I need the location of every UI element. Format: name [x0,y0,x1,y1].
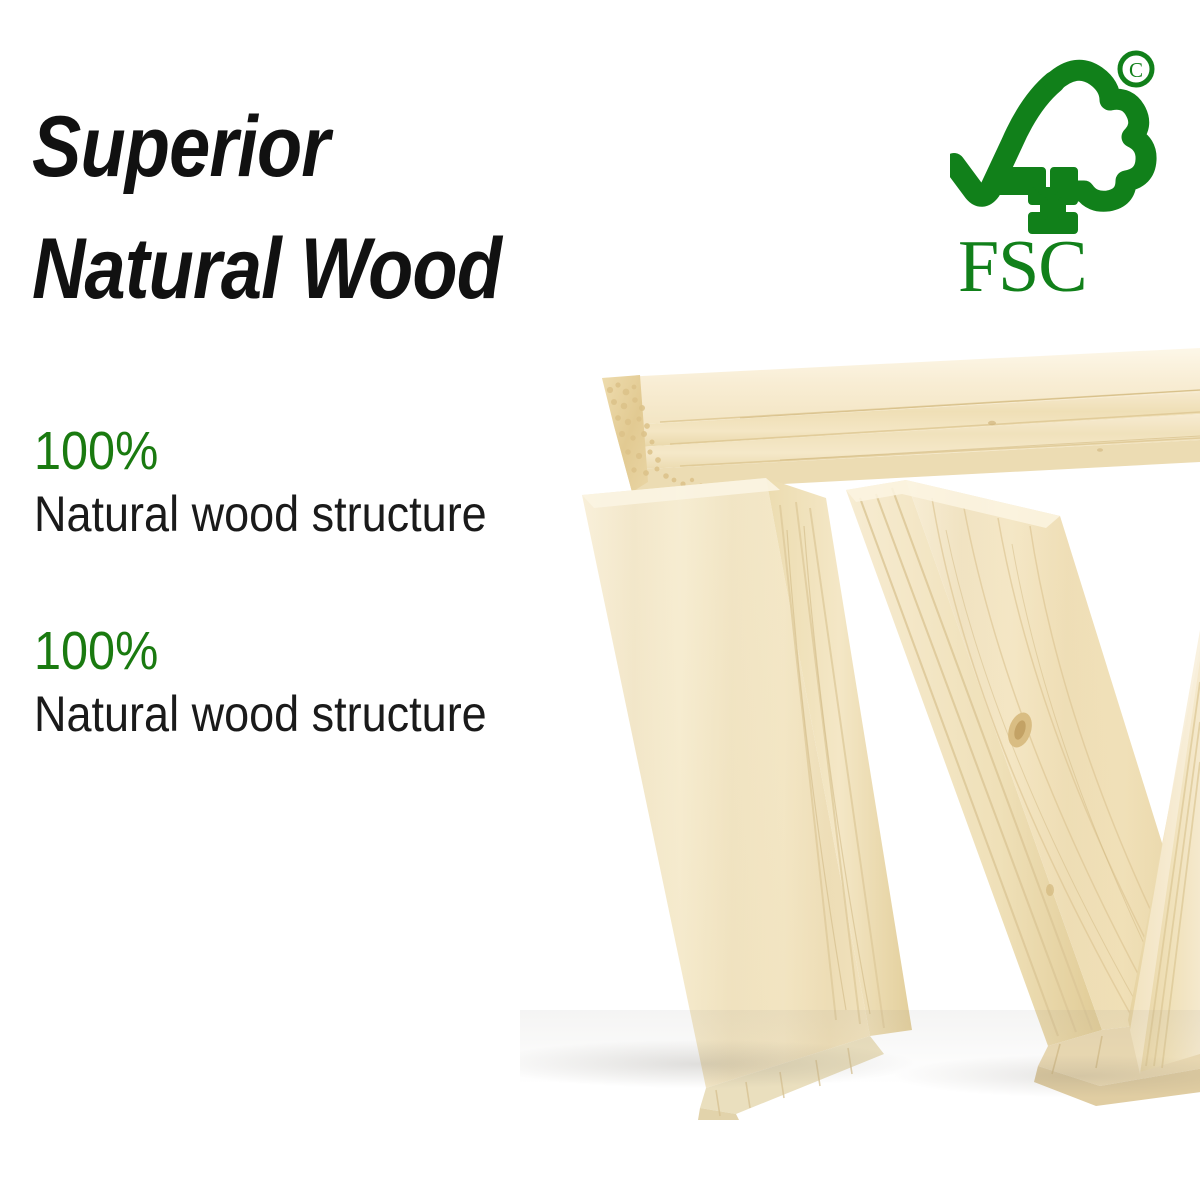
poster-canvas: Superior Natural Wood 100% Natural wood … [0,0,1200,1200]
fsc-wordmark: FSC [958,230,1158,304]
fsc-certification-logo: C FSC [950,38,1170,300]
feature-description: Natural wood structure [34,685,610,744]
feature-description: Natural wood structure [34,485,610,544]
fsc-tree-checkmark-icon: C [950,38,1170,238]
product-image-wood-planks [540,330,1200,1120]
copyright-icon: C [1120,53,1152,85]
wood-plank-top [602,348,1200,492]
feature-percent: 100% [34,424,610,479]
page-title: Superior Natural Wood [32,86,737,330]
svg-text:C: C [1129,58,1143,82]
feature-percent: 100% [34,624,610,679]
wood-plank-left-leg [582,478,912,1120]
